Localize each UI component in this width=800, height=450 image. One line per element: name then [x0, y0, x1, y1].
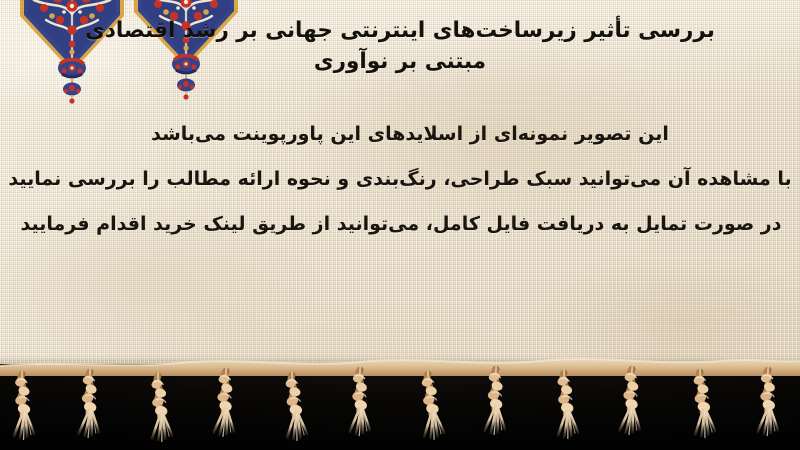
- fringe-tassel: [350, 370, 372, 437]
- carpet-fringe-zone: [0, 350, 800, 450]
- slide-text-layer: بررسی تأثیر زیرساخت‌های اینترنتی جهانی ب…: [0, 0, 800, 370]
- fringe-tassel: [485, 369, 508, 436]
- fringe-tassel: [692, 371, 715, 438]
- fringe-tassel: [758, 370, 780, 437]
- fringe-tassel: [284, 374, 307, 441]
- slide-body-line-3: در صورت تمایل به دریافت فایل کامل، می‌تو…: [8, 202, 792, 247]
- slide-body-line-1: این تصویر نمونه‌ای از اسلایدهای این پاور…: [8, 112, 792, 157]
- fringe-tassel: [150, 376, 172, 443]
- fringe-tassel: [213, 370, 238, 437]
- fringe-tassel: [14, 374, 34, 440]
- presentation-slide: بررسی تأثیر زیرساخت‌های اینترنتی جهانی ب…: [0, 0, 800, 450]
- slide-title-line-2: مبتنی بر نوآوری: [10, 47, 790, 77]
- slide-title: بررسی تأثیر زیرساخت‌های اینترنتی جهانی ب…: [10, 16, 790, 77]
- slide-title-line-1: بررسی تأثیر زیرساخت‌های اینترنتی جهانی ب…: [10, 16, 790, 46]
- fringe-tassel: [420, 373, 445, 440]
- fringe-tassel: [556, 373, 578, 440]
- fringe-tassel: [79, 372, 102, 439]
- slide-body: این تصویر نمونه‌ای از اسلایدهای این پاور…: [8, 112, 792, 247]
- fringe-tassels: [0, 350, 800, 450]
- slide-body-line-2: با مشاهده آن می‌توانید سبک طراحی، رنگ‌بن…: [8, 157, 792, 202]
- fringe-tassel: [619, 368, 644, 435]
